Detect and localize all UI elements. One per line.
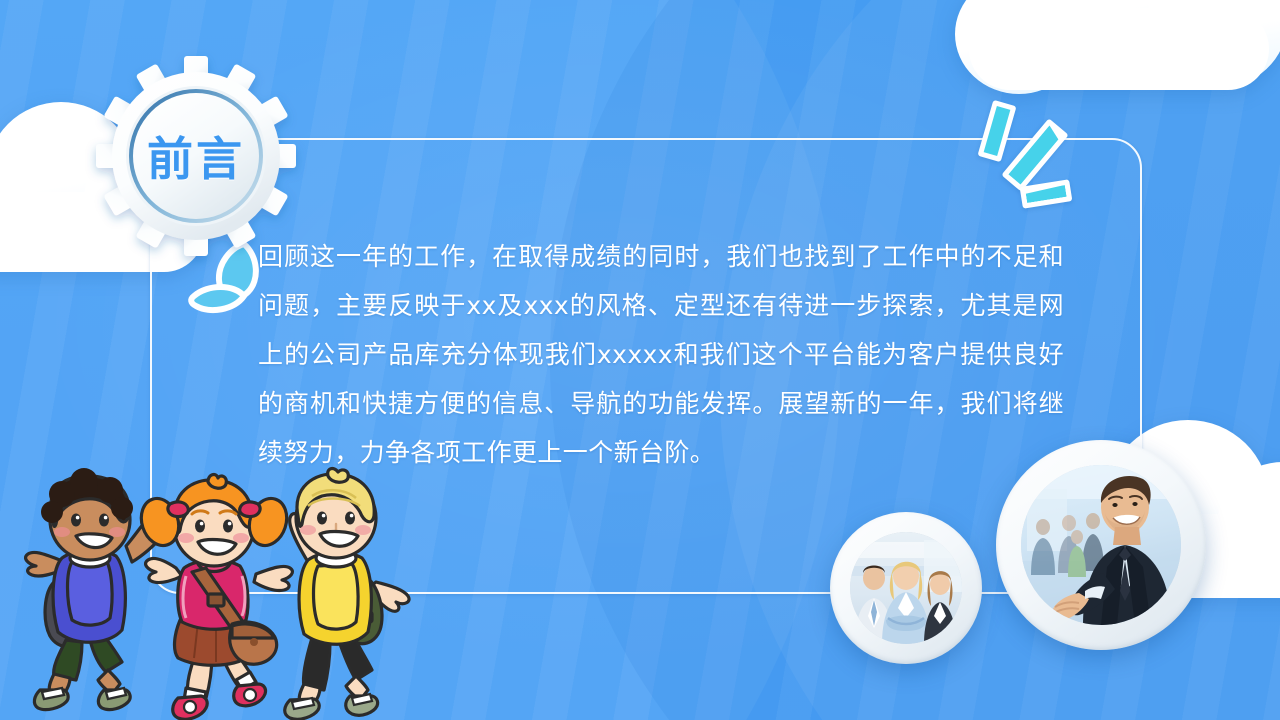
child-2	[135, 475, 292, 720]
gear-badge-label: 前言	[96, 56, 296, 256]
cloud-icon-top-right	[955, 0, 1280, 92]
businessman-handshake-photo	[1021, 465, 1181, 625]
slide-canvas: 前言 回顾这一年的工作，在取得成绩的同时，我们也找到了工作中的不足和问题，主要反…	[0, 0, 1280, 720]
body-paragraph: 回顾这一年的工作，在取得成绩的同时，我们也找到了工作中的不足和问题，主要反映于x…	[258, 232, 1064, 477]
children-illustration: .ol { stroke:#2b2b2b; stroke-width:3.2; …	[6, 462, 426, 720]
businessman-handshake-photo-frame	[996, 440, 1206, 650]
gear-badge: 前言	[96, 56, 296, 256]
child-3	[285, 469, 409, 720]
business-team-photo-frame	[830, 512, 982, 664]
business-team-photo	[850, 532, 962, 644]
child-1	[26, 468, 163, 710]
